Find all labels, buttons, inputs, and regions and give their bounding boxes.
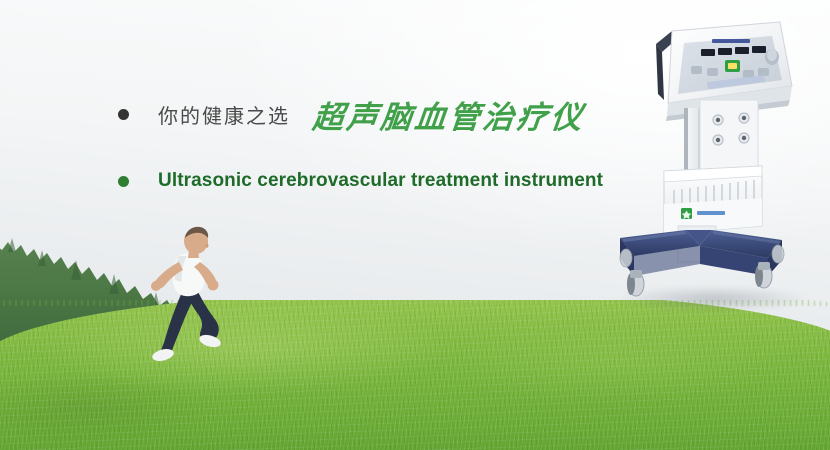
headline-row-secondary: Ultrasonic cerebrovascular treatment ins… xyxy=(118,170,603,192)
bullet-dark-icon xyxy=(118,109,129,120)
bullet-green-icon xyxy=(118,176,129,187)
product-title-chinese: 超声脑血管治疗仪 xyxy=(311,92,588,137)
tagline-chinese: 你的健康之选 xyxy=(158,100,290,129)
grass-field xyxy=(0,300,830,450)
grass-texture xyxy=(0,300,830,450)
headline-row-primary: 你的健康之选 超声脑血管治疗仪 xyxy=(118,92,585,137)
headline-block: 你的健康之选 超声脑血管治疗仪 Ultrasonic cerebrovascul… xyxy=(0,0,620,250)
panel-logo-icon xyxy=(725,60,740,72)
panel-header-text xyxy=(712,39,750,43)
medical-device-illustration xyxy=(612,8,822,308)
grass-body xyxy=(0,300,830,450)
promo-banner: 你的健康之选 超声脑血管治疗仪 Ultrasonic cerebrovascul… xyxy=(0,0,830,450)
product-title-english: Ultrasonic cerebrovascular treatment ins… xyxy=(158,170,603,192)
